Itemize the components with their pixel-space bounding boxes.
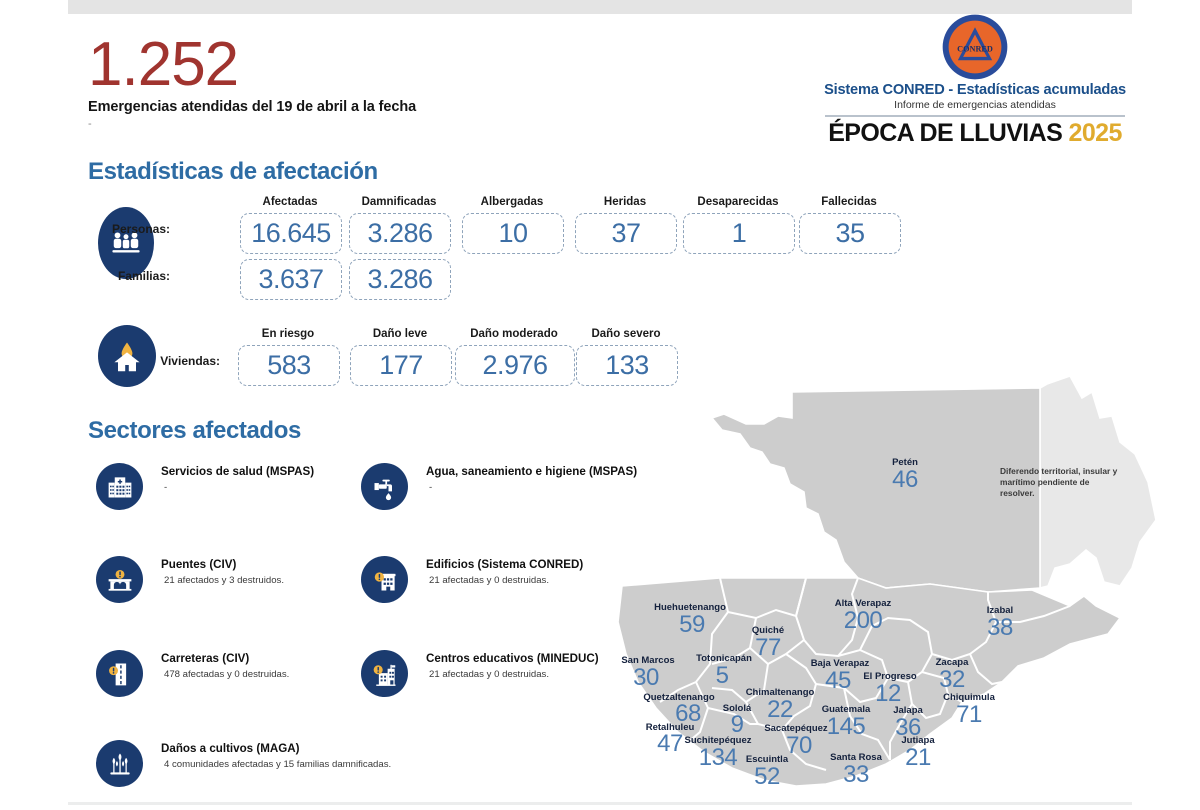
dept-value-el-progreso: 12 [875,680,901,708]
value-familias-afectadas: 3.637 [240,259,342,300]
sector-servicios-de-salud: Servicios de salud (MSPAS) - [96,463,396,513]
sector-detail: 21 afectados y 3 destruidos. [164,575,284,586]
road-icon [96,650,143,697]
col-header-afectadas: Afectadas [240,196,340,208]
dept-value-quiche: 77 [755,634,781,662]
dept-value-baja-verapaz: 45 [825,667,851,695]
value-personas-damnificadas: 3.286 [349,213,451,254]
sector-detail: - [429,482,432,493]
sector-detail: 4 comunidades afectadas y 15 familias da… [164,759,391,770]
dept-value-santa-rosa: 33 [843,761,869,789]
col-header-dano-moderado: Daño moderado [455,328,573,340]
col-header-dano-severo: Daño severo [576,328,676,340]
brand-title-text: ÉPOCA DE LLUVIAS [828,119,1062,147]
sector-puentes: Puentes (CIV) 21 afectados y 3 destruido… [96,556,396,606]
sector-title: Edificios (Sistema CONRED) [426,558,583,571]
sector-detail: - [164,482,167,493]
sector-title: Centros educativos (MINEDUC) [426,652,599,665]
guatemala-map: Petén 46 Huehuetenango 59 Alta Verapaz 2… [600,372,1200,802]
infographic-page: 1.252 Emergencias atendidas del 19 de ab… [0,0,1200,810]
section-title-sectors: Sectores afectados [88,417,301,445]
value-personas-albergadas: 10 [462,213,564,254]
sector-carreteras: Carreteras (CIV) 478 afectadas y 0 destr… [96,650,396,700]
dept-value-retalhuleu: 47 [657,730,683,758]
value-personas-desaparecidas: 1 [683,213,795,254]
sector-detail: 21 afectadas y 0 destruidas. [429,669,549,680]
value-personas-afectadas: 16.645 [240,213,342,254]
dept-value-chimaltenango: 22 [767,696,793,724]
dept-value-guatemala: 145 [827,713,866,741]
conred-logo: CONRED [815,14,1135,80]
damaged-house-icon [98,325,156,387]
emergency-count: 1.252 [88,34,238,96]
dept-value-jutiapa: 21 [905,744,931,772]
dept-value-zacapa: 32 [939,666,965,694]
brand-subtitle-2: Informe de emergencias atendidas [815,99,1135,111]
col-header-dano-leve: Daño leve [350,328,450,340]
col-header-albergadas: Albergadas [462,196,562,208]
bridge-icon [96,556,143,603]
emergency-caption-dash: - [88,118,92,130]
conred-logo-icon: CONRED [942,14,1008,80]
dept-value-chiquimula: 71 [956,701,982,729]
dept-value-huehuetenango: 59 [679,611,705,639]
dept-value-alta-verapaz: 200 [844,607,883,635]
dept-value-suchitepequez: 134 [699,744,738,772]
sector-title: Puentes (CIV) [161,558,236,571]
hospital-icon [96,463,143,510]
school-icon [361,650,408,697]
dept-value-peten: 46 [892,466,918,494]
sector-danos-cultivos: Daños a cultivos (MAGA) 4 comunidades af… [96,740,476,790]
row-label-familias: Familias: [110,269,170,283]
territorial-dispute-note: Diferendo territorial, insular y marítim… [1000,466,1120,499]
row-label-viviendas: Viviendas: [150,354,220,368]
col-header-heridas: Heridas [575,196,675,208]
value-familias-damnificadas: 3.286 [349,259,451,300]
dept-value-totonicapan: 5 [716,662,729,690]
col-header-en-riesgo: En riesgo [238,328,338,340]
row-label-personas: Personas: [110,222,170,236]
value-personas-heridas: 37 [575,213,677,254]
brand-divider [825,115,1125,117]
crops-icon [96,740,143,787]
svg-text:CONRED: CONRED [957,45,993,54]
dept-value-san-marcos: 30 [633,664,659,692]
col-header-fallecidas: Fallecidas [799,196,899,208]
brand-year: 2025 [1069,119,1122,147]
faucet-icon [361,463,408,510]
dept-value-escuintla: 52 [754,763,780,791]
value-personas-fallecidas: 35 [799,213,901,254]
col-header-desaparecidas: Desaparecidas [683,196,793,208]
section-title-statistics: Estadísticas de afectación [88,158,378,186]
brand-title: ÉPOCA DE LLUVIAS 2025 [815,120,1135,147]
dept-shape-peten [712,388,1040,592]
value-viviendas-dano-moderado: 2.976 [455,345,575,386]
brand-subtitle-1: Sistema CONRED - Estadísticas acumuladas [815,82,1135,98]
sector-detail: 21 afectadas y 0 destruidas. [429,575,549,586]
col-header-damnificadas: Damnificadas [349,196,449,208]
sector-title: Carreteras (CIV) [161,652,249,665]
dept-value-izabal: 38 [987,614,1013,642]
sector-title: Servicios de salud (MSPAS) [161,465,314,478]
value-viviendas-en-riesgo: 583 [238,345,340,386]
building-icon [361,556,408,603]
sector-title: Daños a cultivos (MAGA) [161,742,300,755]
value-viviendas-dano-leve: 177 [350,345,452,386]
sector-detail: 478 afectadas y 0 destruidas. [164,669,289,680]
dept-value-sacatepequez: 70 [786,732,812,760]
emergency-caption: Emergencias atendidas del 19 de abril a … [88,99,416,115]
brand-header: CONRED Sistema CONRED - Estadísticas acu… [815,14,1135,147]
top-strip [68,0,1132,14]
